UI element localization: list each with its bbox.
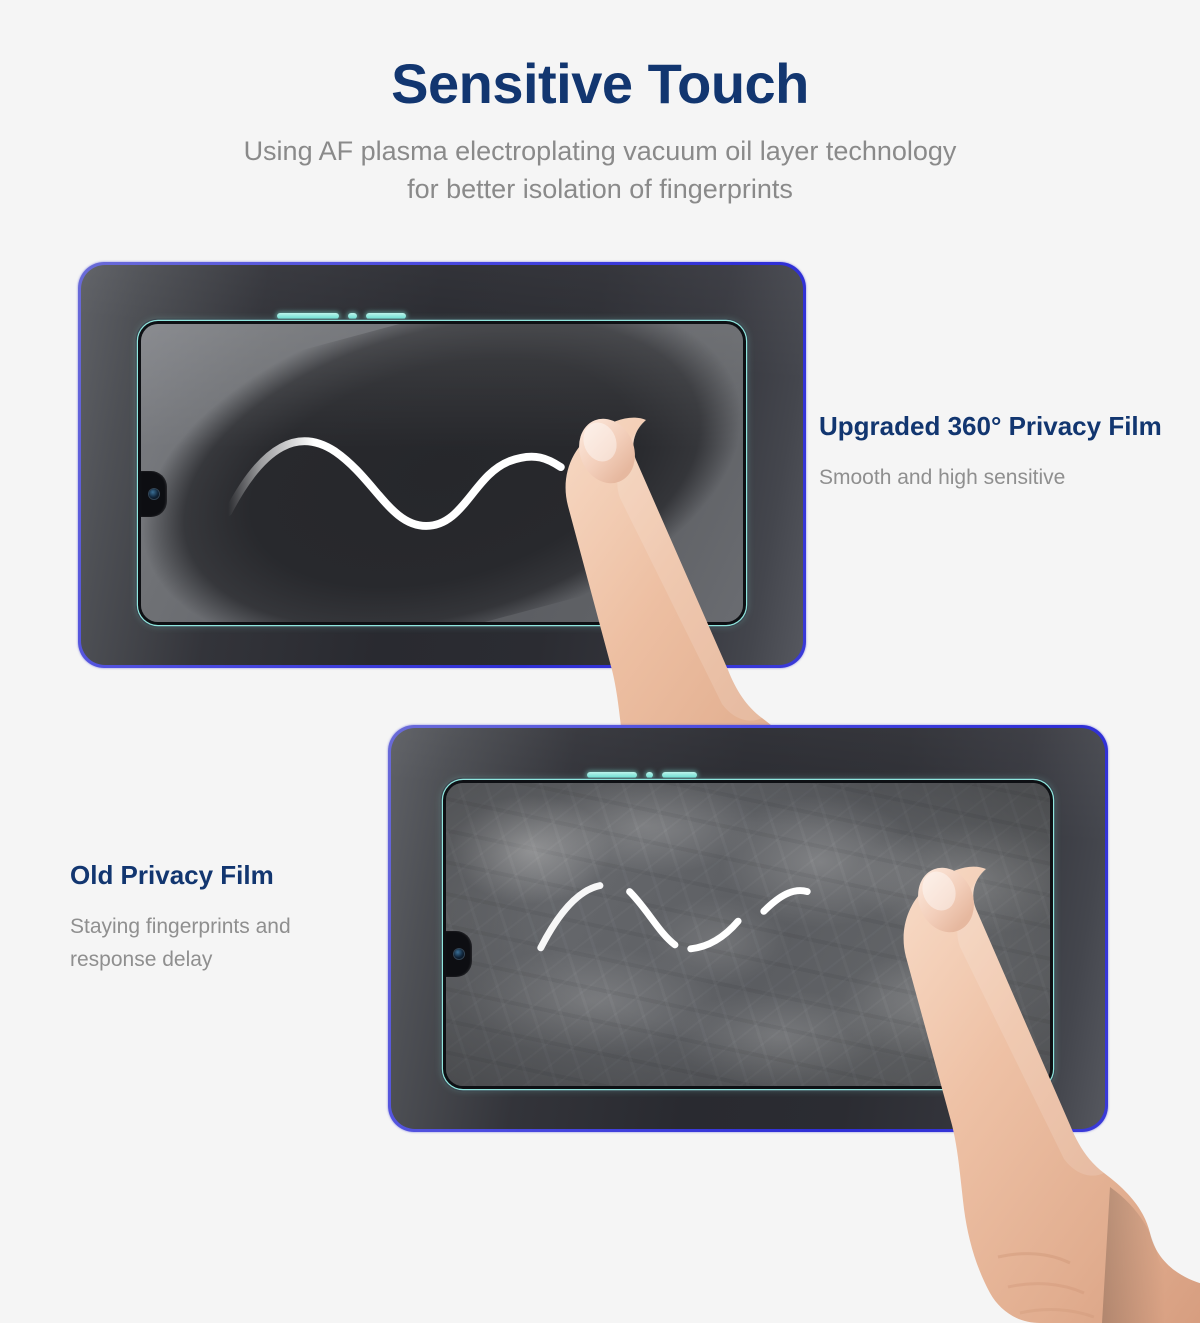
- sensor-cutout: [348, 313, 357, 319]
- glass-inner-bottom: [446, 783, 1050, 1086]
- tempered-glass-top: [138, 321, 746, 625]
- header-block: Sensitive Touch Using AF plasma electrop…: [0, 0, 1200, 208]
- waterdrop-notch-bottom: [446, 931, 472, 977]
- callout-old-title: Old Privacy Film: [70, 860, 370, 891]
- page-subtitle: Using AF plasma electroplating vacuum oi…: [0, 132, 1200, 209]
- callout-old-subtitle-line-1: Staying fingerprints and: [70, 911, 370, 944]
- screen-vignette-bottom: [446, 783, 1050, 1086]
- screen-surface-smudged: [446, 783, 1050, 1086]
- marketing-banner: Sensitive Touch Using AF plasma electrop…: [0, 0, 1200, 1200]
- screen-gloss-top: [141, 324, 743, 449]
- page-title: Sensitive Touch: [0, 55, 1200, 114]
- tempered-glass-bottom: [443, 780, 1053, 1089]
- earpiece-speaker-icon: [277, 313, 339, 319]
- phone-body-top: [81, 265, 803, 665]
- callout-upgraded-title: Upgraded 360° Privacy Film: [819, 411, 1162, 442]
- phone-body-bottom: [391, 728, 1105, 1129]
- phone-upgraded-film: [78, 262, 806, 668]
- phone-old-film: [388, 725, 1108, 1132]
- front-camera-icon: [149, 489, 159, 499]
- front-camera-icon: [454, 949, 464, 959]
- screen-surface-clean: [141, 324, 743, 622]
- callout-old-film: Old Privacy Film Staying fingerprints an…: [70, 860, 370, 976]
- waterdrop-notch-top: [141, 471, 167, 517]
- callout-upgraded-subtitle: Smooth and high sensitive: [819, 462, 1162, 495]
- callout-old-subtitle-line-2: response delay: [70, 944, 370, 977]
- protector-cutouts-bottom: [587, 772, 697, 778]
- protector-cutouts-top: [277, 313, 406, 319]
- earpiece-speaker-icon: [587, 772, 637, 778]
- sensor-cutout: [662, 772, 697, 778]
- callout-old-subtitle: Staying fingerprints and response delay: [70, 911, 370, 976]
- page-subtitle-line-2: for better isolation of fingerprints: [0, 170, 1200, 208]
- sensor-cutout: [366, 313, 406, 319]
- sensor-cutout: [646, 772, 653, 778]
- glass-inner-top: [141, 324, 743, 622]
- page-subtitle-line-1: Using AF plasma electroplating vacuum oi…: [0, 132, 1200, 170]
- callout-upgraded-film: Upgraded 360° Privacy Film Smooth and hi…: [819, 411, 1162, 495]
